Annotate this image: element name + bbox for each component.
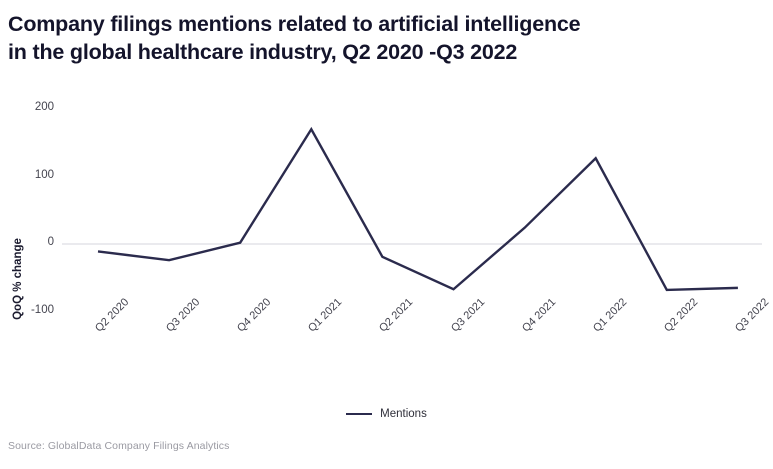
plot-area: QoQ % change 2001000-100 xyxy=(0,88,773,333)
line-chart-svg xyxy=(0,88,773,333)
source-note: Source: GlobalData Company Filings Analy… xyxy=(8,440,230,452)
chart-title-line-1: Company filings mentions related to arti… xyxy=(8,10,748,38)
legend-line-swatch-mentions xyxy=(346,413,372,416)
chart-legend: Mentions xyxy=(0,408,773,420)
chart-container: Company filings mentions related to arti… xyxy=(0,0,773,469)
legend-label-mentions: Mentions xyxy=(380,408,427,420)
chart-title: Company filings mentions related to arti… xyxy=(8,10,748,66)
x-axis-tick-labels: Q2 2020Q3 2020Q4 2020Q1 2021Q2 2021Q3 20… xyxy=(0,326,773,406)
series-line-mentions[interactable] xyxy=(98,129,738,290)
chart-title-line-2: in the global healthcare industry, Q2 20… xyxy=(8,38,748,66)
